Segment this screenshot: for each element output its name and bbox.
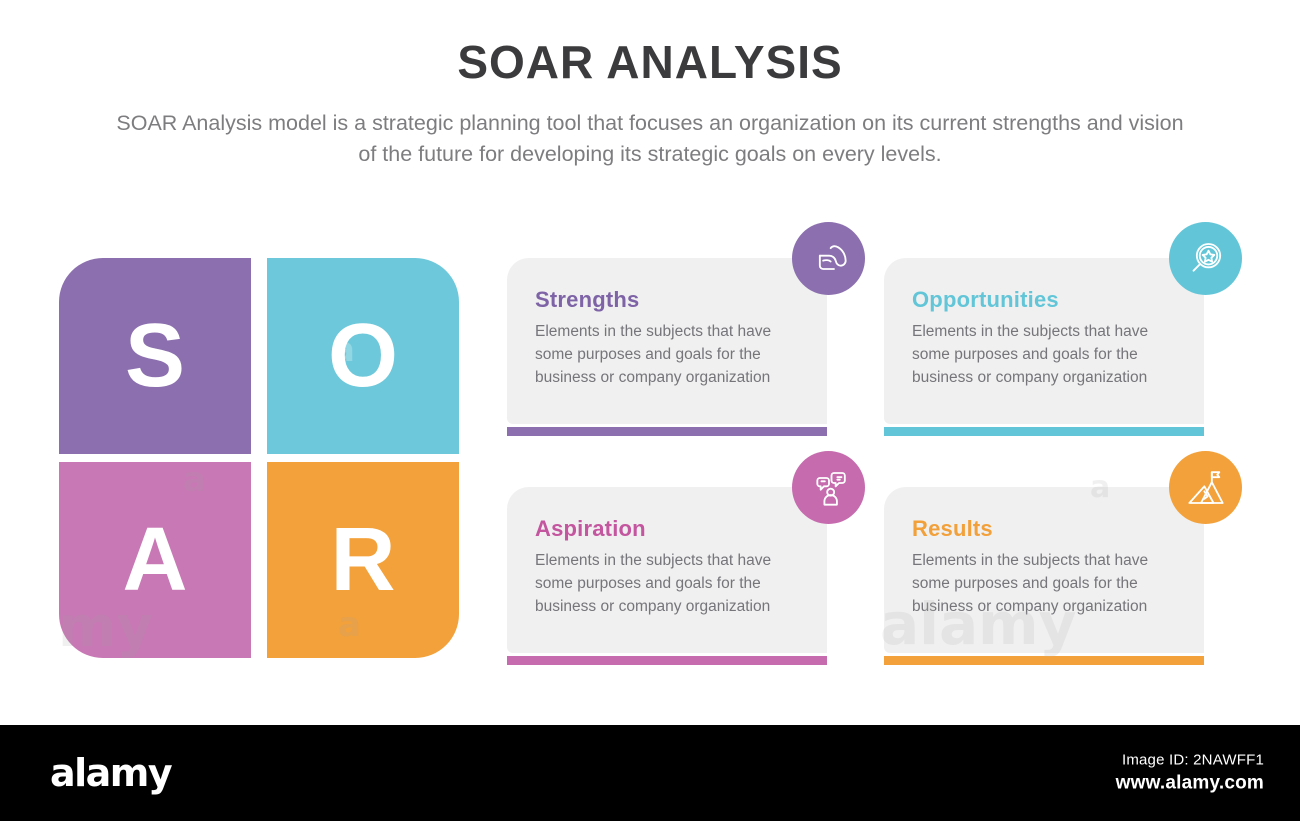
card-results-body: Results Elements in the subjects that ha… [884,487,1204,653]
soar-letter-s: S [125,311,185,401]
alamy-url-label: www.alamy.com [1116,773,1264,795]
card-aspiration[interactable]: Aspiration Elements in the subjects that… [507,487,827,665]
person-speech-bubbles-icon [792,451,865,524]
card-strengths-text: Elements in the subjects that have some … [535,321,805,389]
card-strengths[interactable]: Strengths Elements in the subjects that … [507,258,827,436]
card-opportunities[interactable]: Opportunities Elements in the subjects t… [884,258,1204,436]
soar-letter-r: R [331,515,396,605]
soar-letter-grid: S O A R [59,258,467,658]
card-opportunities-body: Opportunities Elements in the subjects t… [884,258,1204,424]
card-opportunities-text: Elements in the subjects that have some … [912,321,1182,389]
card-strengths-body: Strengths Elements in the subjects that … [507,258,827,424]
page-subtitle: SOAR Analysis model is a strategic plann… [105,108,1195,170]
card-opportunities-heading: Opportunities [912,288,1182,312]
card-results-heading: Results [912,517,1182,541]
alamy-watermark-footer: alamy Image ID: 2NAWFF1 www.alamy.com [0,725,1300,821]
page-title: SOAR ANALYSIS [0,38,1300,86]
magnifier-sparkle-icon [1169,222,1242,295]
flexed-bicep-icon [792,222,865,295]
card-strengths-heading: Strengths [535,288,805,312]
page-header: SOAR ANALYSIS SOAR Analysis model is a s… [0,0,1300,171]
alamy-logo: alamy [50,751,171,795]
card-aspiration-body: Aspiration Elements in the subjects that… [507,487,827,653]
card-results[interactable]: Results Elements in the subjects that ha… [884,487,1204,665]
soar-cell-aspiration[interactable]: A [59,462,251,658]
soar-cell-results[interactable]: R [267,462,459,658]
card-aspiration-heading: Aspiration [535,517,805,541]
card-results-text: Elements in the subjects that have some … [912,550,1182,618]
footer-meta: Image ID: 2NAWFF1 www.alamy.com [1116,752,1264,795]
card-aspiration-accent-bar [507,656,827,665]
soar-letter-a: A [123,515,188,605]
soar-cell-opportunities[interactable]: O [267,258,459,454]
card-opportunities-accent-bar [884,427,1204,436]
mountain-flag-icon [1169,451,1242,524]
card-strengths-accent-bar [507,427,827,436]
card-results-accent-bar [884,656,1204,665]
soar-cards-area: Strengths Elements in the subjects that … [507,258,1207,662]
image-id-label: Image ID: 2NAWFF1 [1116,752,1264,769]
card-aspiration-text: Elements in the subjects that have some … [535,550,805,618]
soar-letter-o: O [328,311,398,401]
soar-cell-strengths[interactable]: S [59,258,251,454]
